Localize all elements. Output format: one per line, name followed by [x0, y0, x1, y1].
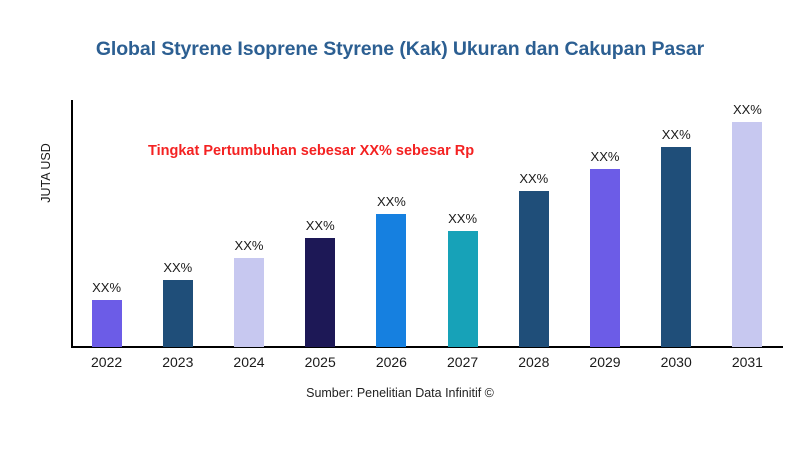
source-note: Sumber: Penelitian Data Infinitif ©: [0, 386, 800, 400]
bar-value-label: XX%: [306, 218, 335, 233]
bar[interactable]: [448, 231, 478, 347]
bar-value-label: XX%: [591, 149, 620, 164]
bar-value-label: XX%: [377, 194, 406, 209]
bar-value-label: XX%: [448, 211, 477, 226]
bar[interactable]: [163, 280, 193, 347]
bar-series: XX%2022XX%2023XX%2024XX%2025XX%2026XX%20…: [0, 0, 800, 450]
x-axis-tick-label: 2023: [162, 354, 193, 370]
bar-value-label: XX%: [733, 102, 762, 117]
bar-value-label: XX%: [662, 127, 691, 142]
x-axis-tick-label: 2022: [91, 354, 122, 370]
bar-value-label: XX%: [163, 260, 192, 275]
bar[interactable]: [305, 238, 335, 347]
bar-value-label: XX%: [92, 280, 121, 295]
bar-group: XX%: [376, 214, 406, 347]
bar[interactable]: [519, 191, 549, 347]
bar-group: XX%: [92, 300, 122, 347]
x-axis-tick-label: 2029: [589, 354, 620, 370]
bar-group: XX%: [448, 231, 478, 347]
x-axis-tick-label: 2026: [376, 354, 407, 370]
bar[interactable]: [732, 122, 762, 347]
bar[interactable]: [234, 258, 264, 347]
bar-group: XX%: [590, 169, 620, 347]
bar[interactable]: [376, 214, 406, 347]
x-axis-tick-label: 2030: [661, 354, 692, 370]
bar-group: XX%: [305, 238, 335, 347]
x-axis-tick-label: 2031: [732, 354, 763, 370]
bar-group: XX%: [234, 258, 264, 347]
bar[interactable]: [92, 300, 122, 347]
bar[interactable]: [661, 147, 691, 347]
x-axis-tick-label: 2024: [233, 354, 264, 370]
bar-value-label: XX%: [519, 171, 548, 186]
x-axis-tick-label: 2028: [518, 354, 549, 370]
bar-group: XX%: [661, 147, 691, 347]
x-axis-tick-label: 2025: [305, 354, 336, 370]
x-axis-tick-label: 2027: [447, 354, 478, 370]
bar-value-label: XX%: [235, 238, 264, 253]
bar-group: XX%: [732, 122, 762, 347]
chart-page: Global Styrene Isoprene Styrene (Kak) Uk…: [0, 0, 800, 450]
bar-group: XX%: [519, 191, 549, 347]
bar[interactable]: [590, 169, 620, 347]
bar-group: XX%: [163, 280, 193, 347]
